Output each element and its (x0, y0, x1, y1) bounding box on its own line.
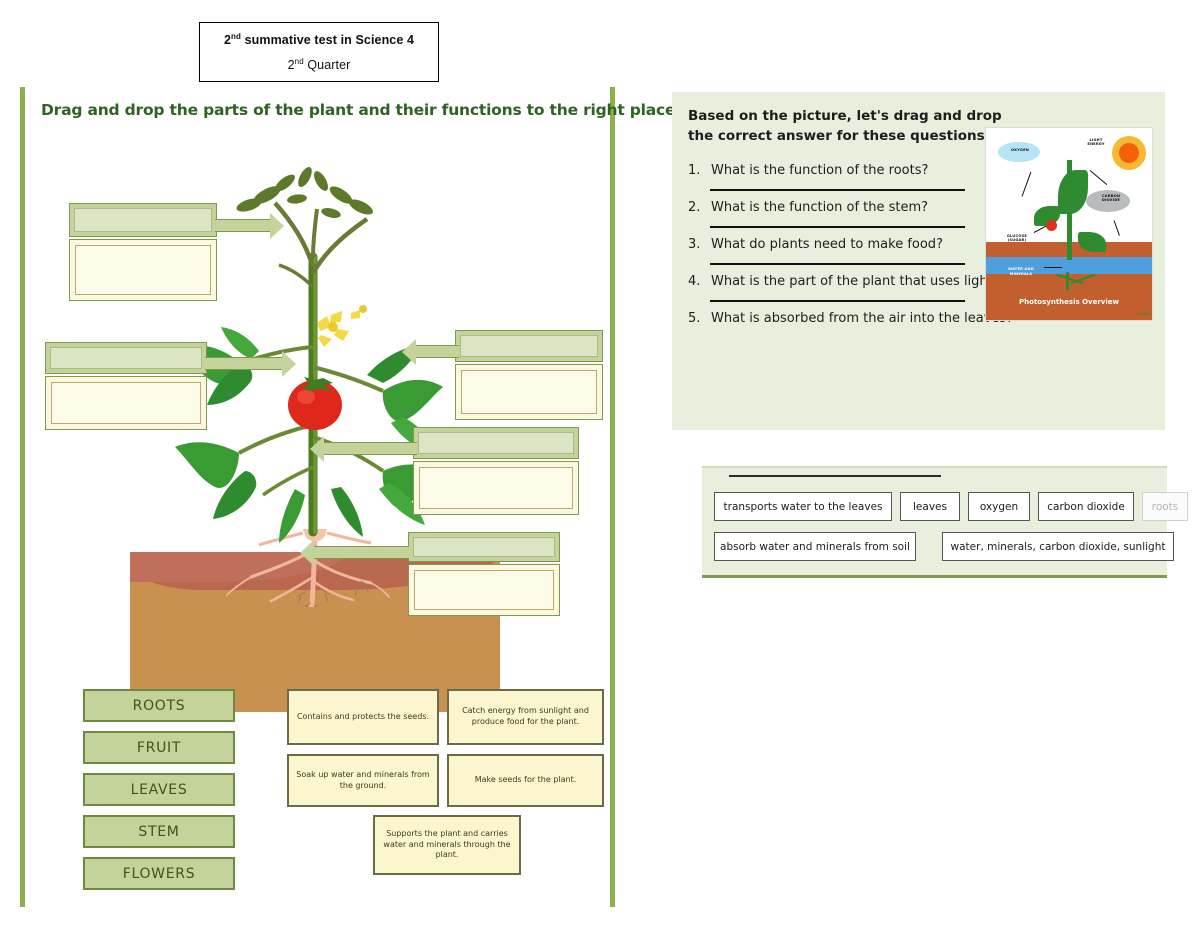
test-title-line-2: 2nd Quarter (288, 57, 351, 72)
connector-arrow-4 (323, 442, 417, 455)
drop-zone-4-function-slot[interactable] (413, 461, 579, 515)
answer-bank-row-1: transports water to the leaves leaves ox… (714, 492, 1188, 521)
function-card[interactable]: Make seeds for the plant. (447, 754, 604, 807)
drop-zone-5-function-value (414, 570, 554, 610)
image-tomato-fruit (1046, 220, 1057, 231)
question-text: What is the function of the stem? (711, 200, 928, 215)
answer-bank-row-2: absorb water and minerals from soil wate… (714, 532, 1174, 561)
function-card[interactable]: Supports the plant and carries water and… (373, 815, 521, 875)
question-number: 1. (688, 163, 704, 178)
answer-chip[interactable]: leaves (900, 492, 960, 521)
image-caption: Photosynthesis Overview (986, 298, 1152, 306)
question-text: What do plants need to make food? (711, 237, 943, 252)
light-energy-label: LIGHT ENERGY (1082, 138, 1110, 147)
drop-zone-4[interactable] (413, 427, 579, 515)
answer-chip[interactable]: oxygen (968, 492, 1030, 521)
answer-blank-2[interactable] (710, 225, 965, 228)
plant-diagram-stage (25, 127, 610, 707)
drop-zone-2-part-slot[interactable] (45, 342, 207, 374)
drop-zone-5[interactable] (408, 532, 560, 616)
drop-zone-1-part-slot[interactable] (69, 203, 217, 237)
drop-zone-3-function-slot[interactable] (455, 364, 603, 420)
water-minerals-arrow-icon (1044, 267, 1062, 268)
answer-chip[interactable]: water, minerals, carbon dioxide, sunligh… (942, 532, 1174, 561)
drop-zone-2[interactable] (45, 342, 207, 430)
drop-zone-3-function-value (461, 370, 597, 414)
question-number: 5. (688, 311, 704, 326)
drop-zone-1[interactable] (69, 203, 217, 301)
carbon-dioxide-label: CARBON DIOXIDE (1094, 194, 1128, 203)
drop-zone-4-part-slot[interactable] (413, 427, 579, 459)
connector-arrow-5 (313, 546, 409, 559)
test-title-line-1: 2nd summative test in Science 4 (224, 32, 414, 47)
drop-zone-1-part-value (74, 208, 212, 232)
drop-zone-3-part-slot[interactable] (455, 330, 603, 362)
question-number: 2. (688, 200, 704, 215)
drop-zone-3[interactable] (455, 330, 603, 420)
question-number: 4. (688, 274, 704, 289)
answer-chip[interactable]: carbon dioxide (1038, 492, 1134, 521)
answer-chip[interactable]: transports water to the leaves (714, 492, 892, 521)
drag-drop-plant-panel: Drag and drop the parts of the plant and… (20, 87, 615, 907)
answer-blank-3[interactable] (710, 262, 965, 265)
oxygen-label: OXYGEN (1003, 148, 1037, 152)
drop-zone-5-function-slot[interactable] (408, 564, 560, 616)
answer-blank-4[interactable] (710, 299, 965, 302)
image-root (1066, 272, 1069, 290)
questions-panel-intro: Based on the picture, let's drag and dro… (688, 106, 1003, 147)
water-minerals-label: WATER AND MINERALS (1004, 267, 1038, 276)
drop-zone-5-part-slot[interactable] (408, 532, 560, 562)
connector-arrow-1 (215, 219, 271, 232)
drop-zone-2-part-value (50, 347, 202, 369)
connector-arrow-2 (205, 357, 283, 370)
connector-arrow-3 (415, 345, 459, 358)
answer-chip[interactable]: absorb water and minerals from soil (714, 532, 916, 561)
questions-panel: Based on the picture, let's drag and dro… (672, 92, 1165, 430)
ordinal-suffix: nd (295, 57, 304, 66)
drop-zone-4-function-value (419, 467, 573, 509)
part-word-card-list: ROOTS FRUIT LEAVES STEM FLOWERS (83, 689, 235, 899)
left-panel-heading: Drag and drop the parts of the plant and… (41, 101, 601, 119)
answer-bank-panel: transports water to the leaves leaves ox… (702, 466, 1167, 578)
drop-zone-1-function-value (75, 245, 211, 295)
sun-icon (1112, 136, 1146, 170)
part-word-card[interactable]: LEAVES (83, 773, 235, 806)
drop-zone-1-function-slot[interactable] (69, 239, 217, 301)
test-title-box: 2nd summative test in Science 4 2nd Quar… (199, 22, 439, 82)
drop-zone-4-part-value (418, 432, 574, 454)
ordinal-suffix: nd (231, 32, 241, 41)
answer-chip-used[interactable]: roots (1142, 492, 1188, 521)
question-number: 3. (688, 237, 704, 252)
answer-blank-1[interactable] (710, 188, 965, 191)
function-card[interactable]: Contains and protects the seeds. (287, 689, 439, 745)
function-card[interactable]: Soak up water and minerals from the grou… (287, 754, 439, 807)
question-text: What is absorbed from the air into the l… (711, 311, 1013, 326)
function-card-list: Contains and protects the seeds. Catch e… (287, 689, 607, 914)
function-card[interactable]: Catch energy from sunlight and produce f… (447, 689, 604, 745)
image-watermark: FoAMS (1137, 312, 1149, 316)
drop-zone-3-part-value (460, 335, 598, 357)
drop-zone-2-function-value (51, 382, 201, 424)
part-word-card[interactable]: ROOTS (83, 689, 235, 722)
answer-bank-blank-line[interactable] (729, 475, 941, 477)
part-word-card[interactable]: FRUIT (83, 731, 235, 764)
glucose-label: GLUCOSE (SUGAR) (1000, 234, 1034, 243)
photosynthesis-overview-image: OXYGEN LIGHT ENERGY CARBON DIOXIDE GLUCO… (985, 127, 1153, 321)
drop-zone-2-function-slot[interactable] (45, 376, 207, 430)
part-word-card[interactable]: FLOWERS (83, 857, 235, 890)
part-word-card[interactable]: STEM (83, 815, 235, 848)
drop-zone-5-part-value (413, 537, 555, 557)
question-text: What is the function of the roots? (711, 163, 928, 178)
